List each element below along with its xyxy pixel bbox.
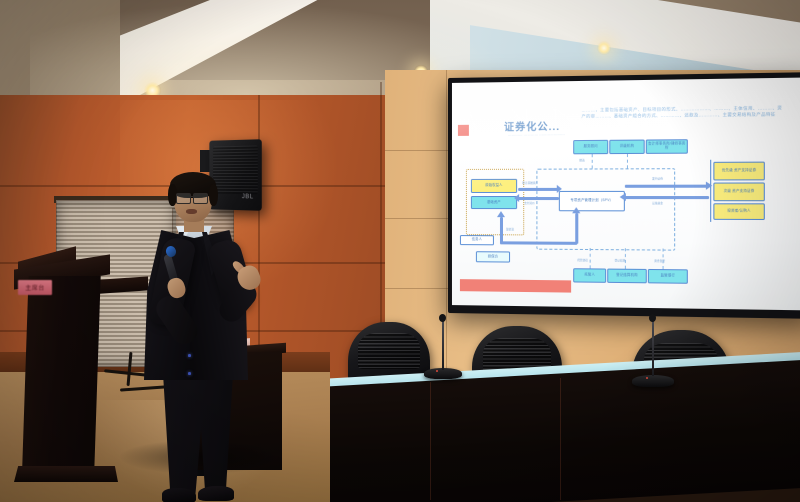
jacket-button-icon [188, 354, 191, 357]
diagram-arrowhead [514, 194, 519, 202]
podium-base [14, 466, 118, 482]
slide-canvas: 证券化公... ………，主要包括基础资产、目标项目的形式、………………、………、… [452, 77, 800, 310]
diagram-box-top-3: 会计师事务所/律师事务所 [646, 139, 688, 154]
diagram-edge-label: 认购资金 [652, 201, 663, 205]
diagram-box-right-3: 投资者/认购人 [713, 203, 765, 220]
diagram-box-left-2: 基础资产 [471, 196, 517, 209]
presenter-shoe-right [198, 486, 234, 501]
diagram-box-left-1: 原始权益人 [471, 179, 517, 193]
desk-microphone[interactable] [632, 362, 674, 386]
diagram-box-bottom-3: 监管银行 [648, 269, 688, 284]
diagram-box-top-2: 评级机构 [609, 140, 644, 155]
diagram-dash-connector [592, 154, 594, 168]
diagram-arrowhead [497, 211, 505, 217]
glasses-icon [176, 193, 191, 204]
diagram-arrowhead [706, 182, 712, 190]
diagram-arrow-left-to-center [518, 188, 559, 191]
diagram-box-center: 专项资产管理计划（SPV） [559, 191, 625, 211]
diagram-box-right-2: 次级 资产支持证券 [713, 182, 765, 201]
glasses-icon [193, 193, 208, 204]
microphone-gooseneck [442, 320, 444, 370]
diagram-edge-label: 聘请 [579, 158, 584, 162]
wall-panel-seam [446, 70, 447, 370]
presenter-legs [160, 374, 236, 500]
podium-nameplate: 主席台 [18, 280, 52, 295]
diagram-edge-label: 发行证券 [652, 176, 663, 180]
table-panel-seam [560, 378, 561, 500]
diagram-arrow-cashflow-h [500, 241, 577, 244]
microphone-led-icon [646, 377, 648, 379]
diagram-dash-connector [590, 248, 592, 268]
diagram-dash-connector [627, 154, 629, 168]
diagram-box-right-1: 优先级 资产支持证券 [713, 162, 765, 181]
presenter-hair-side-right [209, 184, 218, 206]
microphone-led-icon [436, 370, 438, 372]
diagram-box-bottom-2: 登记结算机构 [607, 269, 647, 284]
presenter-mouth [186, 209, 197, 214]
jacket-button-icon [188, 372, 191, 375]
desk-microphone[interactable] [424, 356, 462, 378]
diagram-right-bracket [710, 160, 711, 222]
slide-diagram: 服务顾问 评级机构 会计师事务所/律师事务所 原始权益人 基础资产 债务人 担保… [460, 138, 800, 285]
diagram-arrow-cashflow-up [575, 213, 578, 244]
glasses-bridge [189, 196, 193, 197]
microphone-capsule [439, 314, 446, 322]
diagram-arrow-center-to-right [625, 185, 709, 188]
diagram-arrow-center-to-left [518, 197, 559, 200]
presenter [128, 176, 280, 502]
diagram-edge-label: 资金监管 [654, 259, 665, 263]
diagram-box-debtor: 债务人 [460, 235, 494, 245]
diagram-arrowhead [557, 185, 562, 193]
diagram-edge-label: 支付对价 [524, 201, 535, 205]
diagram-box-top-1: 服务顾问 [573, 140, 608, 154]
chair-mesh [358, 333, 420, 369]
slide-subtext: ………… ………… ………………… [508, 132, 581, 137]
diagram-arrowhead [620, 193, 626, 201]
microphone-capsule [649, 314, 656, 322]
slide-body-text: ………，主要包括基础资产、目标项目的形式、………………、………、主体信用、………… [581, 105, 782, 119]
table-panel-seam [430, 382, 431, 500]
lectern [22, 276, 104, 474]
presenter-shoe-left [162, 488, 196, 502]
diagram-arrow-right-to-center [625, 196, 709, 199]
microphone-base [632, 375, 674, 387]
diagram-arrow-cashflow-v [500, 217, 503, 243]
microphone-gooseneck [652, 320, 654, 376]
ceiling-downlight-icon [597, 41, 611, 55]
slide-accent-mark [458, 125, 469, 136]
diagram-box-bottom-1: 托管人 [573, 268, 606, 283]
diagram-edge-label: 现金流 [506, 227, 514, 231]
diagram-arrowhead [572, 207, 580, 213]
diagram-edge-label: 登记结算 [614, 258, 625, 262]
diagram-edge-label: 转让基础资产 [522, 181, 538, 185]
conference-room-photo: JBL 证券化公... ………，主要包括基础资产、目标项目的形式、………………、… [0, 0, 800, 502]
diagram-edge-label: 托管协议 [577, 258, 588, 262]
diagram-box-guarantor: 担保方 [476, 251, 510, 262]
projection-screen: 证券化公... ………，主要包括基础资产、目标项目的形式、………………、………、… [448, 72, 800, 319]
